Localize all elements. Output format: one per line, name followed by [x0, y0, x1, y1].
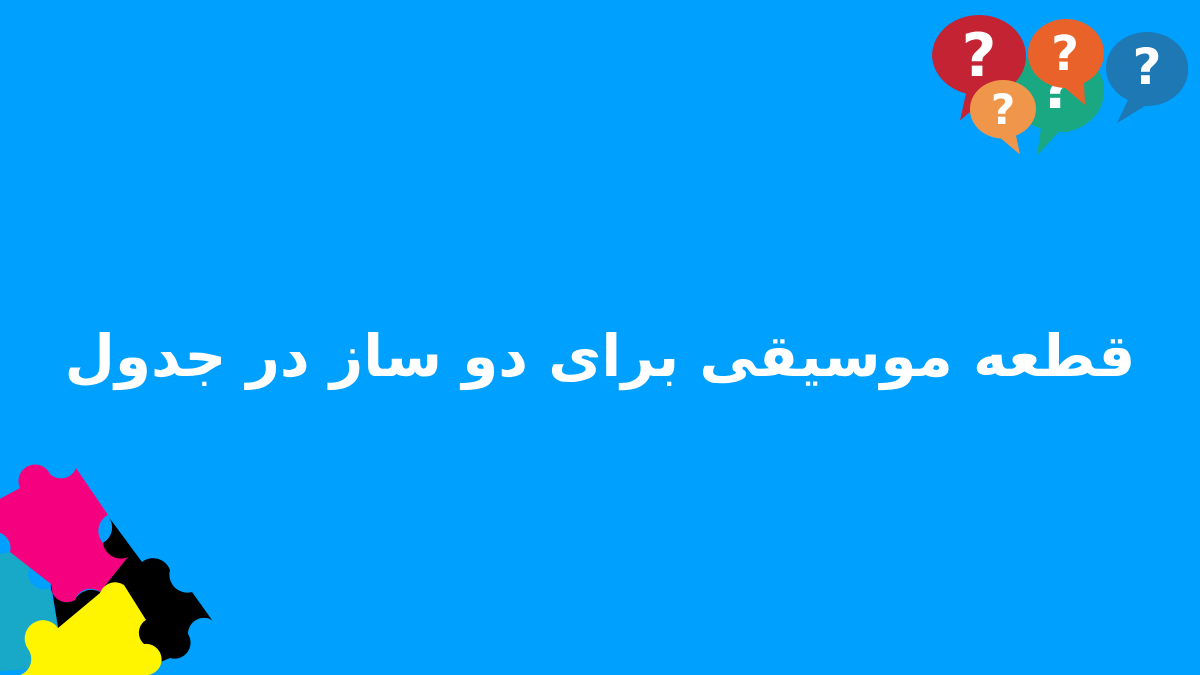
page-title: قطعه موسیقی برای دو ساز در جدول [0, 296, 1200, 416]
bubble-light-orange: ? [970, 80, 1036, 155]
bubble-steel-blue: ? [1106, 32, 1188, 123]
question-mark-glyph: ? [991, 85, 1015, 134]
question-mark-glyph: ? [1051, 26, 1079, 82]
question-mark-glyph: ? [962, 21, 997, 91]
speech-bubble-cluster: ? ? ? ? ? [908, 0, 1200, 175]
puzzle-illustration [0, 460, 232, 675]
question-mark-glyph: ? [1132, 38, 1161, 96]
slide-canvas: ? ? ? ? ? قطعه مو [0, 0, 1200, 675]
page-title-text: قطعه موسیقی برای دو ساز در جدول [65, 320, 1136, 393]
